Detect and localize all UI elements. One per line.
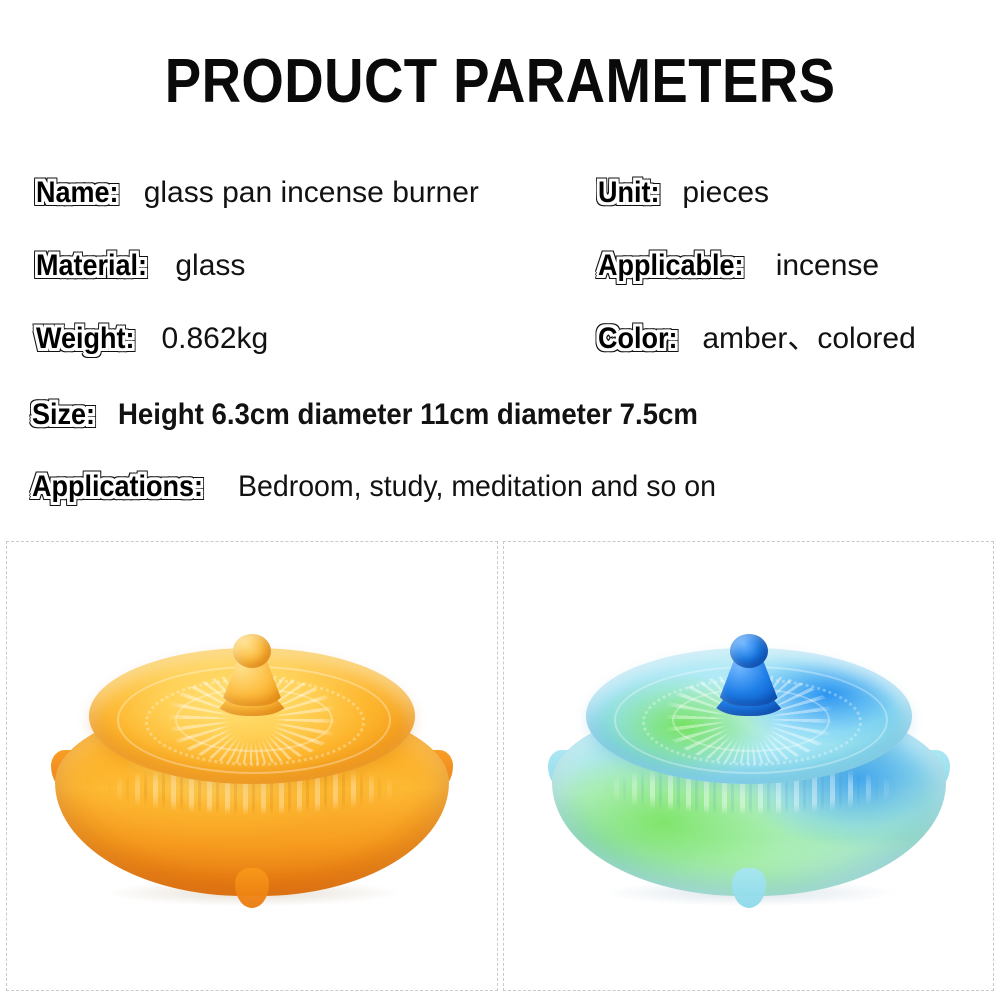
spec-value-name: glass pan incense burner (144, 176, 479, 210)
product-parameters-table: Name: glass pan incense burner Unit: pie… (0, 170, 1000, 540)
incense-burner-amber (37, 622, 467, 922)
spec-cell-size: Size: Height 6.3cm diameter 11cm diamete… (32, 398, 748, 432)
spec-row: Applications: Bedroom, study, meditation… (0, 470, 1000, 516)
spec-cell-unit: Unit: pieces (598, 176, 769, 210)
spec-label-unit: Unit: (598, 176, 659, 210)
spec-row: Material: glass Applicable: incense (0, 249, 1000, 295)
spec-value-weight: 0.862kg (161, 322, 268, 356)
spec-cell-color: Color: amber、colored (598, 322, 916, 356)
product-gallery (0, 541, 1000, 993)
product-image-amber (7, 542, 497, 990)
spec-label-color: Color: (598, 322, 677, 356)
spec-label-material: Material: (36, 249, 147, 283)
spec-value-applicable: incense (776, 249, 879, 283)
spec-cell-material: Material: glass (36, 249, 245, 283)
spec-label-applications: Applications: (32, 470, 203, 504)
spec-value-size: Height 6.3cm diameter 11cm diameter 7.5c… (118, 398, 698, 432)
spec-label-weight: Weight: (36, 322, 134, 356)
spec-value-color: amber、colored (702, 322, 915, 356)
spec-value-unit: pieces (682, 176, 769, 210)
spec-row: Size: Height 6.3cm diameter 11cm diamete… (0, 398, 1000, 444)
incense-burner-colored (534, 622, 964, 922)
spec-label-size: Size: (32, 398, 95, 432)
spec-cell-name: Name: glass pan incense burner (36, 176, 479, 210)
page-title: PRODUCT PARAMETERS (165, 46, 836, 118)
spec-value-material: glass (175, 249, 245, 283)
spec-cell-applications: Applications: Bedroom, study, meditation… (32, 470, 741, 504)
spec-label-name: Name: (36, 176, 119, 210)
finial-knob (730, 634, 768, 668)
spec-cell-applicable: Applicable: incense (598, 249, 879, 283)
spec-row: Weight: 0.862kg Color: amber、colored (0, 322, 1000, 368)
spec-row: Name: glass pan incense burner Unit: pie… (0, 176, 1000, 222)
spec-cell-weight: Weight: 0.862kg (36, 322, 268, 356)
page-title-wrap: PRODUCT PARAMETERS (0, 46, 1000, 118)
product-image-colored (504, 542, 993, 990)
product-photo-panel-amber (6, 541, 498, 991)
product-photo-panel-colored (503, 541, 994, 991)
spec-value-applications: Bedroom, study, meditation and so on (238, 470, 716, 504)
finial-knob (233, 634, 271, 668)
spec-label-applicable: Applicable: (598, 249, 744, 283)
